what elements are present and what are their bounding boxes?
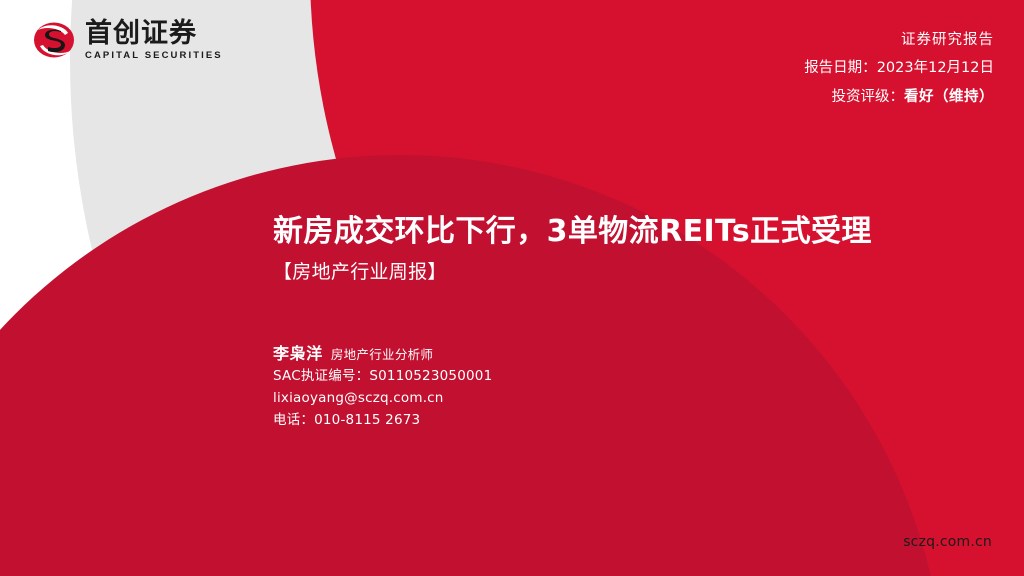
author-role: 房地产行业分析师 bbox=[331, 344, 433, 363]
author-name-row: 李枭洋 房地产行业分析师 bbox=[273, 340, 492, 364]
report-cover-page: 首创证券 CAPITAL SECURITIES 证券研究报告 报告日期：2023… bbox=[0, 0, 1024, 576]
author-name: 李枭洋 bbox=[273, 340, 323, 364]
author-block: 李枭洋 房地产行业分析师 SAC执证编号：S0110523050001 lixi… bbox=[273, 340, 492, 432]
author-phone: 电话：010-8115 2673 bbox=[273, 410, 492, 432]
investment-rating-label: 投资评级： bbox=[832, 89, 905, 105]
page-subtitle: 【房地产行业周报】 bbox=[273, 260, 872, 286]
brand-logo-wordmark: 首创证券 CAPITAL SECURITIES bbox=[85, 20, 223, 61]
title-block: 新房成交环比下行，3单物流REITs正式受理 【房地产行业周报】 bbox=[273, 213, 872, 285]
author-sac-number: SAC执证编号：S0110523050001 bbox=[273, 366, 492, 388]
author-email[interactable]: lixiaoyang@sczq.com.cn bbox=[273, 388, 492, 410]
report-type-label: 证券研究报告 bbox=[804, 26, 994, 54]
report-date-row: 报告日期：2023年12月12日 bbox=[804, 54, 994, 82]
page-title: 新房成交环比下行，3单物流REITs正式受理 bbox=[273, 213, 872, 251]
report-date-label: 报告日期： bbox=[804, 60, 877, 76]
footer-website-url[interactable]: sczq.com.cn bbox=[903, 534, 992, 550]
report-date-value: 2023年12月12日 bbox=[877, 60, 994, 76]
brand-name-en: CAPITAL SECURITIES bbox=[85, 51, 223, 61]
investment-rating-value: 看好（维持） bbox=[904, 89, 994, 105]
investment-rating-row: 投资评级：看好（维持） bbox=[804, 83, 994, 111]
brand-logo[interactable]: 首创证券 CAPITAL SECURITIES bbox=[32, 20, 223, 61]
capital-securities-swoosh-icon bbox=[32, 20, 76, 60]
header-meta-block: 证券研究报告 报告日期：2023年12月12日 投资评级：看好（维持） bbox=[804, 26, 994, 111]
brand-name-cn: 首创证券 bbox=[85, 20, 223, 48]
